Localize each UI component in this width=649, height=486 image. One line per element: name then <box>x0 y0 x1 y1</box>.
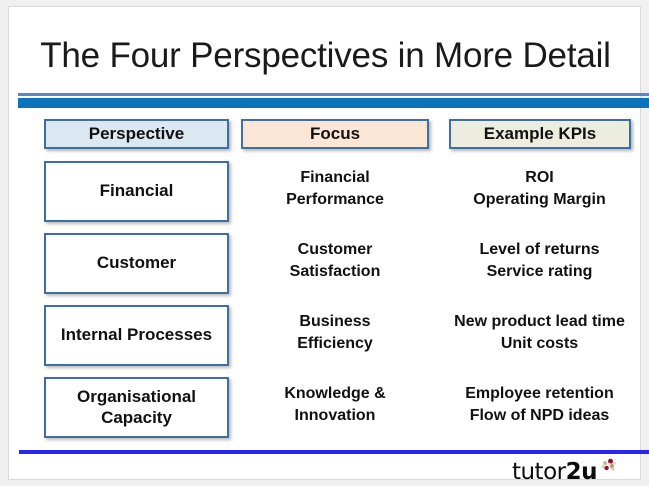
divider-thick-top <box>18 98 649 108</box>
column-header-focus: Focus <box>241 119 429 149</box>
perspective-box: Organisational Capacity <box>44 377 229 438</box>
kpi-cell: Level of returns Service rating <box>437 239 642 282</box>
kpi-cell: Employee retention Flow of NPD ideas <box>437 383 642 426</box>
perspective-box: Financial <box>44 161 229 222</box>
column-header-perspective: Perspective <box>44 119 229 149</box>
logo-text-2u: 2u <box>566 459 597 485</box>
focus-cell: Business Efficiency <box>237 311 433 354</box>
page-title: The Four Perspectives in More Detail <box>18 27 633 85</box>
flower-icon <box>598 457 618 477</box>
focus-cell: Customer Satisfaction <box>237 239 433 282</box>
footer-logo: tutor2u <box>512 459 618 485</box>
focus-cell: Financial Performance <box>237 167 433 210</box>
column-header-example-kpis: Example KPIs <box>449 119 631 149</box>
divider-thin-top <box>18 93 649 96</box>
kpi-cell: ROI Operating Margin <box>437 167 642 210</box>
logo-text-tutor: tutor <box>512 459 566 485</box>
divider-bottom <box>19 450 649 454</box>
logo-wordmark: tutor2u <box>512 459 597 485</box>
perspective-box: Internal Processes <box>44 305 229 366</box>
focus-cell: Knowledge & Innovation <box>237 383 433 426</box>
slide-frame: The Four Perspectives in More Detail Per… <box>0 0 649 486</box>
slide-canvas: The Four Perspectives in More Detail Per… <box>8 6 641 480</box>
perspective-box: Customer <box>44 233 229 294</box>
kpi-cell: New product lead time Unit costs <box>437 311 642 354</box>
